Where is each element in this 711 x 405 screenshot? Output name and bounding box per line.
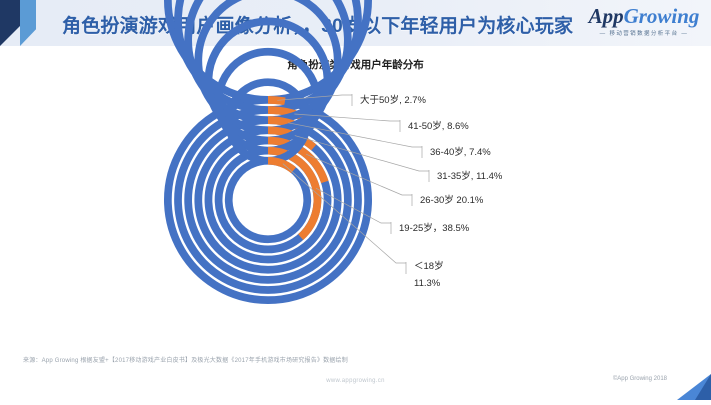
ring-value-6 <box>268 161 294 170</box>
copyright-notice: ©App Growing 2018 <box>613 376 667 382</box>
data-label-under-18: ＜18岁 <box>414 258 444 272</box>
data-label-36-40: 36-40岁, 7.4% <box>430 144 491 158</box>
website-url: www.appgrowing.cn <box>0 378 711 384</box>
footer-navy-triangle-decoration <box>695 374 711 400</box>
data-label-under-18-value: 11.3% <box>414 278 440 289</box>
chart-container <box>0 0 711 400</box>
data-label-41-50: 41-50岁, 8.6% <box>408 118 469 132</box>
radial-bar-chart <box>0 0 711 400</box>
data-label-19-25: 19-25岁，38.5% <box>399 220 469 234</box>
slide: 角色扮演游戏用户画像分析，，30岁以下年轻用户为核心玩家 AppGrowing … <box>0 0 711 400</box>
data-label-over-50: 大于50岁, 2.7% <box>360 92 426 106</box>
source-note: 来源：App Growing 根据友盟+【2017移动游戏产业白皮书】及极光大数… <box>23 355 348 364</box>
data-label-26-30: 26-30岁 20.1% <box>420 192 483 206</box>
data-label-31-35: 31-35岁, 11.4% <box>437 168 502 182</box>
